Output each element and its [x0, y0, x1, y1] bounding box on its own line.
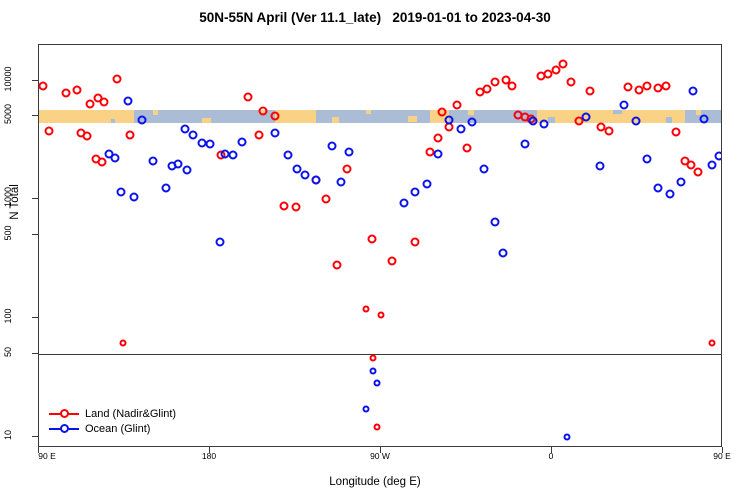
legend-item-ocean[interactable]: Ocean (Glint)	[49, 421, 176, 436]
y-tick-label: 1000	[3, 177, 13, 217]
y-tick-label: 10	[3, 415, 13, 455]
data-point-ocean	[643, 154, 652, 163]
data-point-ocean	[362, 406, 369, 413]
data-point-land	[374, 424, 381, 431]
data-point-land	[586, 86, 595, 95]
data-point-land	[462, 144, 471, 153]
data-point-ocean	[215, 237, 224, 246]
reference-line-50	[39, 354, 721, 355]
chart-title: 50N-55N April (Ver 11.1_late) 2019-01-01…	[0, 10, 750, 25]
data-point-ocean	[498, 249, 507, 258]
data-point-ocean	[283, 151, 292, 160]
data-point-land	[567, 77, 576, 86]
data-point-land	[624, 83, 633, 92]
x-tick-label: 90 W	[370, 451, 390, 461]
y-tick-label: 10000	[3, 59, 13, 99]
data-point-land	[411, 237, 420, 246]
data-point-ocean	[168, 162, 177, 171]
data-point-land	[671, 127, 680, 136]
data-point-land	[437, 108, 446, 117]
strip-coastline-detail	[202, 118, 211, 123]
data-point-ocean	[111, 153, 120, 162]
data-point-land	[119, 339, 126, 346]
data-point-ocean	[631, 116, 640, 125]
data-point-ocean	[399, 199, 408, 208]
data-point-ocean	[270, 129, 279, 138]
data-point-ocean	[116, 188, 125, 197]
strip-segment-land	[275, 110, 317, 123]
data-point-land	[44, 126, 53, 135]
data-point-land	[342, 165, 351, 174]
x-tick-label: 0	[549, 451, 554, 461]
data-point-ocean	[411, 188, 420, 197]
data-point-ocean	[700, 114, 709, 123]
data-point-land	[708, 339, 715, 346]
data-point-ocean	[137, 115, 146, 124]
y-tick-label: 100	[3, 296, 13, 336]
data-point-ocean	[677, 177, 686, 186]
data-point-ocean	[434, 150, 443, 159]
strip-coastline-detail	[366, 110, 371, 114]
y-tick-label: 5000	[3, 94, 13, 134]
x-tick-label: 90 E	[38, 451, 56, 461]
data-point-land	[61, 88, 70, 97]
strip-coastline-detail	[408, 116, 417, 122]
data-point-ocean	[468, 117, 477, 126]
data-point-ocean	[301, 171, 310, 180]
data-point-ocean	[374, 380, 381, 387]
data-point-land	[491, 77, 500, 86]
data-point-land	[508, 82, 517, 91]
data-point-land	[662, 81, 671, 90]
x-tick-label: 90 E	[713, 451, 731, 461]
data-point-land	[333, 260, 342, 269]
strip-coastline-detail	[240, 119, 244, 123]
data-point-land	[73, 85, 82, 94]
data-point-land	[82, 132, 91, 141]
legend-marker-ocean-icon	[49, 422, 79, 435]
data-point-land	[367, 235, 376, 244]
data-point-ocean	[707, 160, 716, 169]
data-point-ocean	[238, 137, 247, 146]
data-point-ocean	[620, 100, 629, 109]
data-point-land	[244, 92, 253, 101]
data-point-land	[483, 85, 492, 94]
data-point-land	[370, 354, 377, 361]
data-point-ocean	[665, 190, 674, 199]
data-point-land	[112, 75, 121, 84]
data-point-land	[605, 126, 614, 135]
data-point-land	[38, 82, 47, 91]
data-point-ocean	[188, 130, 197, 139]
legend-marker-land-icon	[49, 407, 79, 420]
data-point-ocean	[582, 113, 591, 122]
legend: Land (Nadir&Glint) Ocean (Glint)	[45, 402, 182, 440]
data-point-ocean	[183, 166, 192, 175]
y-tick-label: 50	[3, 332, 13, 372]
data-point-land	[694, 167, 703, 176]
legend-label-land: Land (Nadir&Glint)	[85, 408, 176, 420]
data-point-land	[126, 130, 135, 139]
x-axis-label: Longitude (deg E)	[0, 476, 750, 488]
data-point-land	[321, 195, 330, 204]
data-point-ocean	[445, 115, 454, 124]
legend-label-ocean: Ocean (Glint)	[85, 423, 150, 435]
data-point-ocean	[521, 140, 530, 149]
data-point-ocean	[206, 139, 215, 148]
strip-segment-land	[39, 110, 134, 123]
data-point-ocean	[654, 183, 663, 192]
data-point-ocean	[337, 177, 346, 186]
data-point-land	[643, 82, 652, 91]
legend-item-land[interactable]: Land (Nadir&Glint)	[49, 406, 176, 421]
data-point-land	[255, 130, 264, 139]
data-point-land	[686, 160, 695, 169]
plot-area: Land (Nadir&Glint) Ocean (Glint)	[38, 44, 722, 447]
data-point-ocean	[688, 86, 697, 95]
data-point-ocean	[124, 97, 133, 106]
data-point-ocean	[130, 192, 139, 201]
data-point-ocean	[529, 116, 538, 125]
y-tick-label: 500	[3, 213, 13, 253]
data-point-ocean	[456, 125, 465, 134]
data-point-ocean	[479, 165, 488, 174]
data-point-ocean	[228, 151, 237, 160]
strip-segment-land	[537, 110, 685, 123]
data-point-ocean	[715, 152, 722, 161]
data-point-land	[259, 107, 268, 116]
data-point-ocean	[595, 162, 604, 171]
data-point-land	[559, 60, 568, 69]
data-point-land	[453, 100, 462, 109]
data-point-ocean	[564, 433, 571, 440]
data-point-ocean	[312, 176, 321, 185]
data-point-ocean	[422, 179, 431, 188]
data-point-land	[280, 201, 289, 210]
strip-coastline-detail	[548, 117, 555, 123]
data-point-land	[362, 305, 369, 312]
strip-coastline-detail	[153, 110, 158, 115]
data-point-ocean	[540, 120, 549, 129]
data-point-ocean	[327, 142, 336, 151]
data-point-land	[291, 203, 300, 212]
data-point-ocean	[491, 218, 500, 227]
strip-coastline-detail	[468, 110, 474, 115]
strip-coastline-detail	[111, 119, 115, 123]
strip-coastline-detail	[666, 117, 672, 123]
data-point-ocean	[162, 183, 171, 192]
data-point-land	[434, 133, 443, 142]
data-point-land	[270, 112, 279, 121]
strip-coastline-detail	[332, 117, 339, 123]
data-point-land	[378, 312, 385, 319]
strip-coastline-detail	[613, 110, 622, 114]
data-point-ocean	[370, 367, 377, 374]
data-point-ocean	[344, 148, 353, 157]
data-point-land	[99, 98, 108, 107]
x-tick-label: 180	[202, 451, 216, 461]
figure-container: 50N-55N April (Ver 11.1_late) 2019-01-01…	[0, 0, 750, 500]
data-point-land	[388, 257, 397, 266]
data-point-ocean	[149, 157, 158, 166]
data-point-land	[97, 158, 106, 167]
